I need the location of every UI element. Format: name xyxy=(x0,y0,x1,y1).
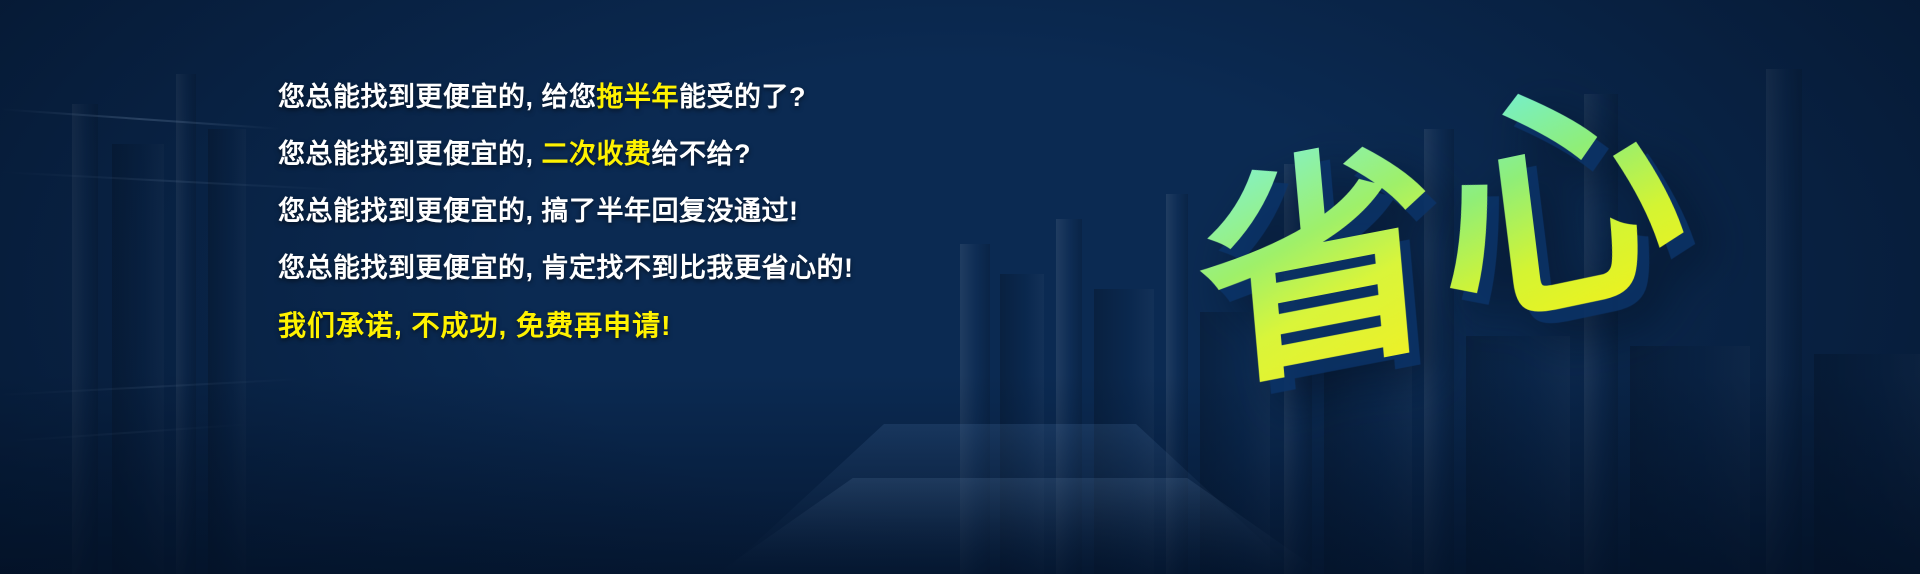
copy-line-2-highlight: 二次收费 xyxy=(542,139,652,169)
headline-char-xin: 心 xyxy=(1422,59,1696,352)
copy-line-2: 您总能找到更便宜的, 二次收费给不给? xyxy=(278,141,918,168)
copy-line-2-suffix: 给不给? xyxy=(652,139,752,169)
copy-line-1-suffix: 能受的了? xyxy=(679,82,806,112)
copy-line-3-prefix: 您总能找到更便宜的, 搞了半年回复没通过! xyxy=(278,196,799,226)
copy-line-1-highlight: 拖半年 xyxy=(597,82,680,112)
copy-line-1: 您总能找到更便宜的, 给您拖半年能受的了? xyxy=(278,84,918,111)
copy-line-4-prefix: 您总能找到更便宜的, 肯定找不到比我更省心的! xyxy=(278,253,854,283)
marketing-copy-block: 您总能找到更便宜的, 给您拖半年能受的了? 您总能找到更便宜的, 二次收费给不给… xyxy=(278,84,918,340)
copy-line-1-prefix: 您总能找到更便宜的, 给您 xyxy=(278,82,597,112)
copy-line-3: 您总能找到更便宜的, 搞了半年回复没通过! xyxy=(278,198,918,225)
copy-line-5-promise: 我们承诺, 不成功, 免费再申请! xyxy=(278,312,918,340)
promo-banner: 您总能找到更便宜的, 给您拖半年能受的了? 您总能找到更便宜的, 二次收费给不给… xyxy=(0,0,1920,574)
headline-3d: 省 心 xyxy=(1200,62,1720,402)
copy-line-4: 您总能找到更便宜的, 肯定找不到比我更省心的! xyxy=(278,255,918,282)
headline-char-sheng: 省 xyxy=(1190,127,1448,408)
copy-line-5-prefix: 我们承诺, 不成功, 免费再申请! xyxy=(278,310,671,341)
copy-line-2-prefix: 您总能找到更便宜的, xyxy=(278,139,542,169)
